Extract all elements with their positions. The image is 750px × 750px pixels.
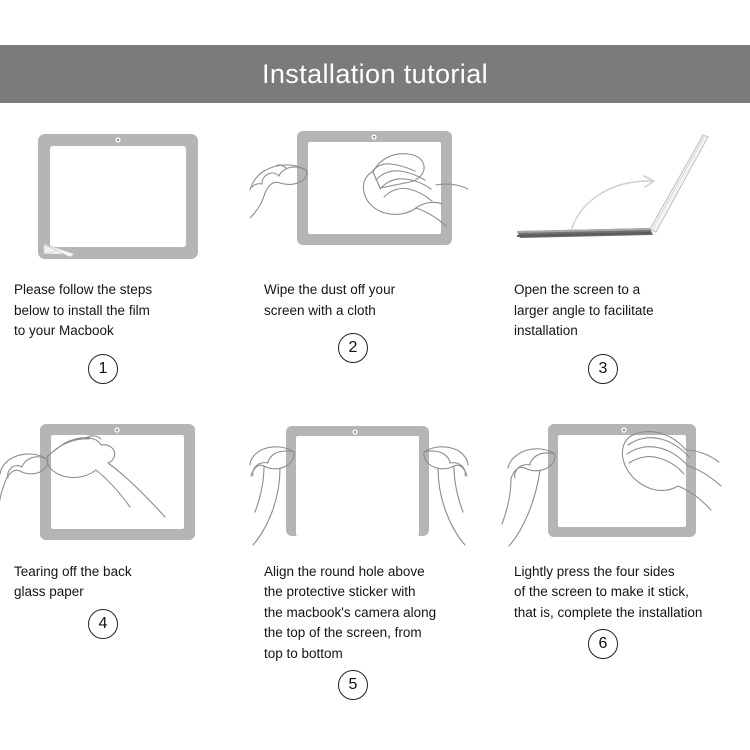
step-4-illustration (0, 404, 250, 554)
step-card-2: Wipe the dust off your screen with a clo… (250, 118, 500, 404)
laptop-screen-icon (650, 135, 708, 232)
step-1-illustration (0, 118, 250, 268)
step-4-caption: Tearing off the back glass paper (14, 562, 244, 603)
right-hand-icon (424, 446, 468, 544)
step-6-illustration (500, 404, 750, 554)
step-number-badge: 4 (88, 609, 118, 639)
steps-grid: Please follow the steps below to install… (0, 118, 750, 726)
step-3-caption: Open the screen to a larger angle to fac… (514, 280, 744, 342)
step-card-3: Open the screen to a larger angle to fac… (500, 118, 750, 404)
step-6-number-wrap: 6 (500, 623, 750, 685)
screen-bezel-icon (38, 134, 198, 259)
step-card-6: Lightly press the four sides of the scre… (500, 404, 750, 727)
screen-bezel-icon (286, 426, 429, 536)
tutorial-page: Installation tutorial (0, 0, 750, 750)
step-card-1: Please follow the steps below to install… (0, 118, 250, 404)
step-1-number-wrap: 1 (0, 342, 250, 404)
step-number-badge: 3 (588, 354, 618, 384)
step-number-badge: 6 (588, 629, 618, 659)
header-bar: Installation tutorial (0, 45, 750, 103)
step-card-5: Align the round hole above the protectiv… (250, 404, 500, 727)
step-3-illustration (500, 118, 750, 268)
step-6-caption: Lightly press the four sides of the scre… (514, 562, 744, 624)
step-2-illustration (250, 118, 500, 268)
step-5-number-wrap: 5 (250, 664, 500, 726)
step-number-badge: 1 (88, 354, 118, 384)
page-title: Installation tutorial (262, 61, 488, 88)
step-2-number-wrap: 2 (250, 321, 500, 383)
step-1-caption: Please follow the steps below to install… (14, 280, 244, 342)
step-5-illustration (250, 404, 500, 554)
step-card-4: Tearing off the back glass paper 4 (0, 404, 250, 727)
screen-bezel-icon (40, 424, 195, 540)
step-4-number-wrap: 4 (0, 603, 250, 665)
screen-bezel-icon (548, 424, 696, 537)
step-3-number-wrap: 3 (500, 342, 750, 404)
step-number-badge: 2 (338, 333, 368, 363)
laptop-base-icon (517, 228, 653, 238)
step-5-caption: Align the round hole above the protectiv… (264, 562, 494, 665)
rotation-arrow-icon (572, 176, 654, 228)
left-hand-icon (502, 448, 555, 545)
step-2-caption: Wipe the dust off your screen with a clo… (264, 280, 494, 321)
step-number-badge: 5 (338, 670, 368, 700)
